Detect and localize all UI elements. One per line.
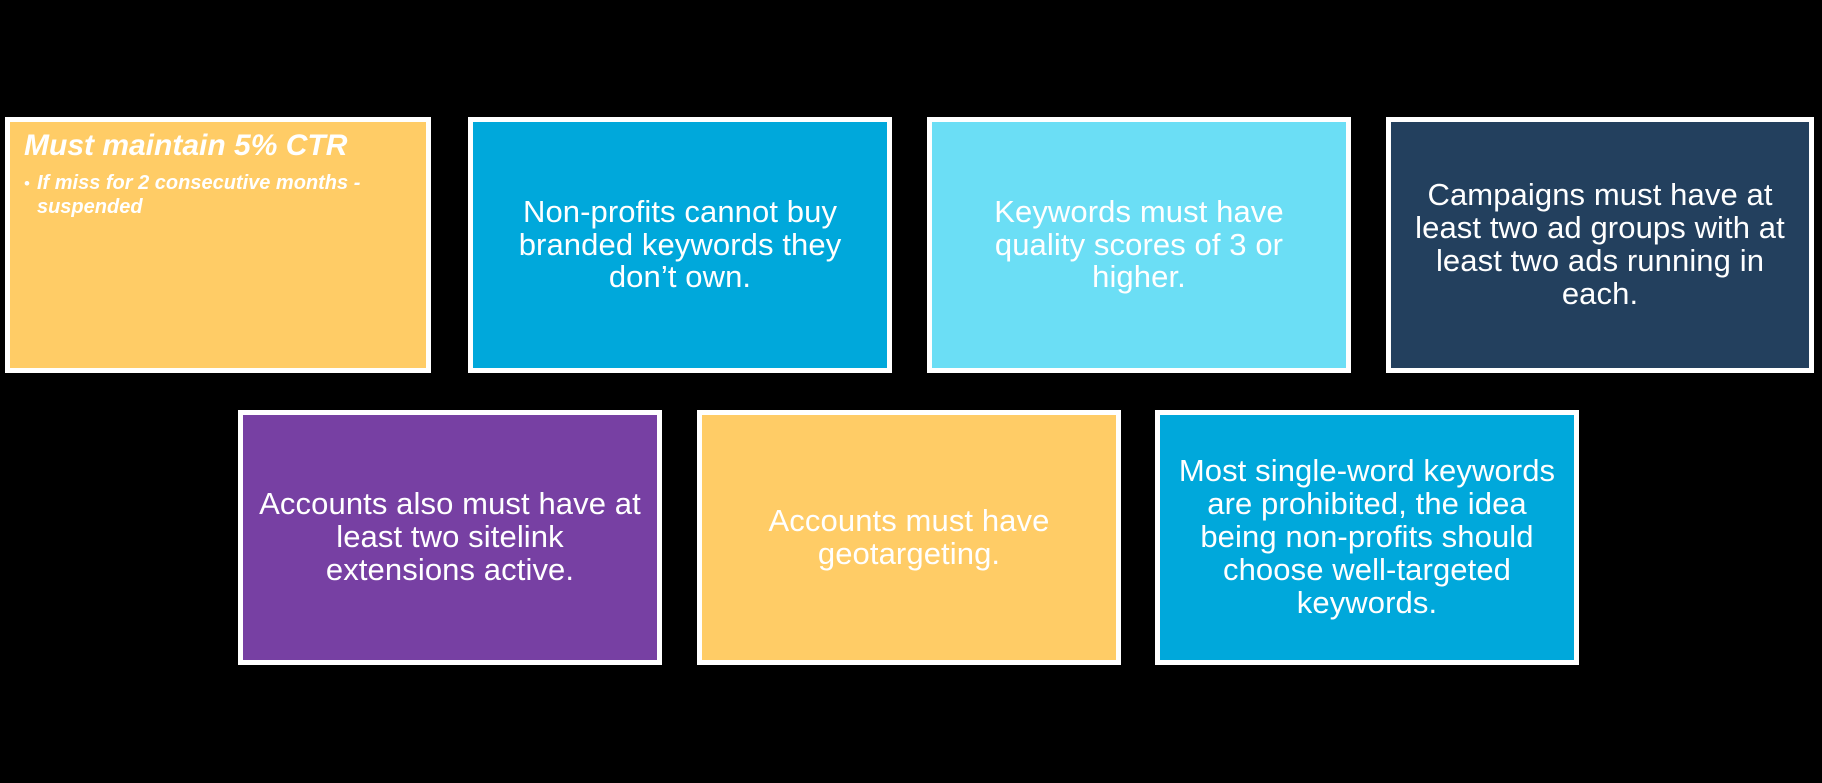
branded-keywords-card[interactable]: Non-profits cannot buy branded keywords … [468, 117, 892, 373]
geotargeting-card[interactable]: Accounts must have geotargeting. [697, 410, 1121, 665]
ctr-requirement-card[interactable]: Must maintain 5% CTR • If miss for 2 con… [5, 117, 431, 373]
single-word-keywords-card-text: Most single-word keywords are prohibited… [1160, 455, 1574, 619]
ctr-card-bullet-text: If miss for 2 consecutive months - suspe… [37, 171, 416, 219]
quality-score-card-text: Keywords must have quality scores of 3 o… [932, 196, 1346, 295]
quality-score-card[interactable]: Keywords must have quality scores of 3 o… [927, 117, 1351, 373]
campaign-structure-card[interactable]: Campaigns must have at least two ad grou… [1386, 117, 1814, 373]
bullet-dot-icon: • [24, 173, 37, 194]
ctr-card-headline: Must maintain 5% CTR [10, 122, 426, 162]
campaign-structure-card-text: Campaigns must have at least two ad grou… [1391, 179, 1809, 310]
slide-canvas: Must maintain 5% CTR • If miss for 2 con… [0, 0, 1822, 783]
geotargeting-card-text: Accounts must have geotargeting. [702, 505, 1116, 571]
branded-keywords-card-text: Non-profits cannot buy branded keywords … [473, 196, 887, 295]
sitelink-extensions-card[interactable]: Accounts also must have at least two sit… [238, 410, 662, 665]
sitelink-extensions-card-text: Accounts also must have at least two sit… [243, 488, 657, 587]
ctr-card-bullet-row: • If miss for 2 consecutive months - sus… [10, 162, 426, 219]
single-word-keywords-card[interactable]: Most single-word keywords are prohibited… [1155, 410, 1579, 665]
